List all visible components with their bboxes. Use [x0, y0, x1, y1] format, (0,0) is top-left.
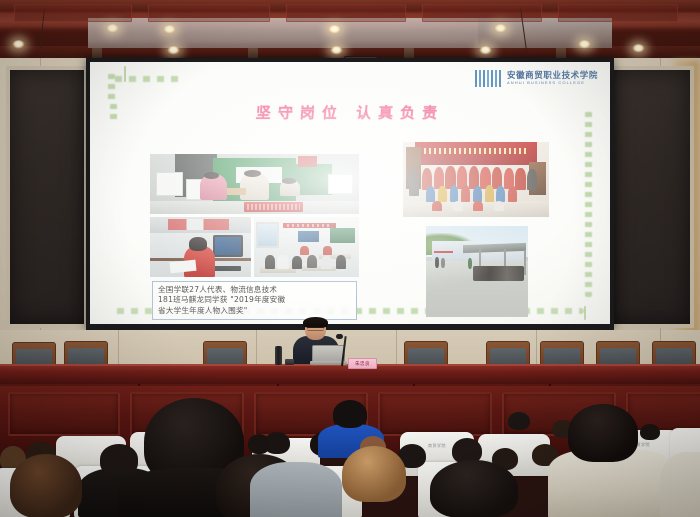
ceiling-downlight — [167, 46, 180, 55]
audience-shoulders — [250, 462, 342, 517]
thermos[interactable] — [275, 346, 282, 365]
acoustic-panel-left — [6, 66, 88, 328]
slide-caption: 全国学联27人代表、物流信息技术 181班马麒龙同学获 "2019年度安徽 省大… — [152, 281, 357, 320]
institution-name-cn: 安徽商贸职业技术学院 — [507, 72, 598, 81]
photo-community-service — [150, 154, 359, 214]
desk-device[interactable] — [285, 359, 294, 365]
photo-campus-bike-shed — [426, 226, 528, 317]
ceiling-downlight — [328, 25, 341, 34]
audience-head — [640, 424, 660, 440]
audience-head — [10, 454, 82, 517]
acoustic-panel-right — [608, 66, 694, 328]
seat-label: 商贸学院 — [428, 443, 446, 449]
audience-head — [508, 412, 530, 430]
ceiling-downlight — [106, 24, 119, 33]
lecture-hall-scene: 安徽商贸职业技术学院 ANHUI BUSINESS COLLEGE 坚守岗位 认… — [0, 0, 700, 517]
institution-name-en: ANHUI BUSINESS COLLEGE — [507, 81, 598, 85]
institution-logo: 安徽商贸职业技术学院 ANHUI BUSINESS COLLEGE — [475, 70, 598, 87]
slide-title: 坚守岗位 认真负责 — [90, 102, 610, 123]
ceiling-downlight — [494, 24, 507, 33]
projection-screen-frame: 安徽商贸职业技术学院 ANHUI BUSINESS COLLEGE 坚守岗位 认… — [86, 58, 614, 330]
audience-head — [342, 446, 406, 502]
ceiling-downlight — [163, 25, 176, 34]
slide-decor-top — [112, 76, 184, 82]
caption-line-1: 全国学联27人代表、物流信息技术 — [158, 285, 351, 295]
audience-head — [100, 444, 138, 474]
ceiling-downlight — [479, 46, 492, 55]
audience-head — [568, 404, 638, 462]
caption-line-3: 省大学生年度人物入围奖" — [158, 306, 351, 316]
institution-logo-icon — [475, 70, 503, 87]
audience-head — [430, 460, 518, 517]
name-card-text: 朱忠良 — [355, 361, 370, 367]
ceiling-downlight — [632, 44, 645, 53]
glasses-icon — [307, 327, 324, 331]
wall-panel — [378, 392, 492, 436]
ceiling-downlight — [578, 40, 591, 49]
projection-screen: 安徽商贸职业技术学院 ANHUI BUSINESS COLLEGE 坚守岗位 认… — [90, 62, 610, 324]
ceiling-downlight — [12, 40, 25, 49]
slide-decor-right — [585, 110, 592, 298]
microphone-icon[interactable] — [336, 334, 343, 339]
photo-group-red-shirts — [403, 142, 549, 217]
name-card: 朱忠良 — [348, 358, 377, 369]
audience-head — [333, 400, 367, 428]
audience-head — [248, 434, 270, 454]
slide-decor-tick1 — [124, 66, 126, 82]
slide-decor-left — [108, 72, 115, 104]
wall-panel — [8, 392, 120, 436]
audience-shoulders — [660, 452, 700, 517]
slide-decor-tick2 — [584, 306, 586, 320]
photo-classroom-meeting — [254, 217, 359, 277]
ceiling-light-band-right — [478, 18, 612, 48]
caption-line-2: 181班马麒龙同学获 "2019年度安徽 — [158, 295, 351, 305]
photo-student-computer — [150, 217, 251, 277]
ceiling-downlight — [330, 46, 343, 55]
